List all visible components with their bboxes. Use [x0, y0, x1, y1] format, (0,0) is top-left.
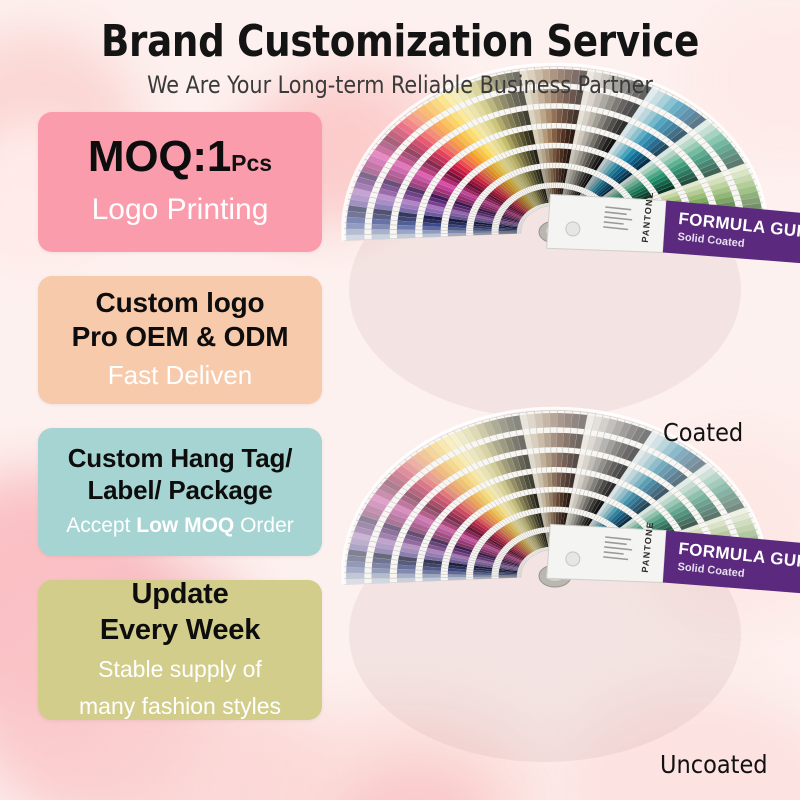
feature-card-hangtag[interactable]: Custom Hang Tag/ Label/ Package Accept L… — [38, 428, 322, 556]
banner-header: Brand Customization Service We Are Your … — [0, 0, 800, 100]
deck-label-coated: Coated — [663, 419, 743, 447]
moq-subline: Logo Printing — [48, 190, 312, 230]
pantone-fan-deck-coated — [330, 104, 800, 444]
pantone-cover-card-coated: PANTONE FORMULA GUIDE Solid Coated — [545, 186, 800, 266]
update-subline-line1: Stable supply of — [48, 654, 312, 685]
moq-headline: MOQ:1Pcs — [48, 132, 312, 188]
fan-deck-uncoated-graphic — [330, 438, 800, 788]
hangtag-headline-line1: Custom Hang Tag/ — [48, 442, 312, 474]
oem-headline-line1: Custom logo — [48, 286, 312, 320]
promo-banner: Brand Customization Service We Are Your … — [0, 0, 800, 800]
deck-label-uncoated: Uncoated — [660, 751, 768, 779]
pantone-fan-deck-uncoated — [330, 438, 800, 788]
hangtag-subline: Accept Low MOQ Order — [48, 511, 312, 541]
oem-subline: Fast Deliven — [48, 358, 312, 392]
hangtag-subline-strong: Low MOQ — [136, 514, 234, 537]
fan-deck-coated-graphic — [330, 104, 800, 444]
update-subline-line2: many fashion styles — [48, 691, 312, 722]
page-subtitle: We Are Your Long-term Reliable Business … — [16, 70, 784, 100]
page-title: Brand Customization Service — [24, 16, 776, 68]
hangtag-headline-line2: Label/ Package — [48, 474, 312, 506]
hangtag-subline-pre: Accept — [66, 514, 136, 537]
feature-card-moq[interactable]: MOQ:1Pcs Logo Printing — [38, 112, 322, 252]
oem-headline-line2: Pro OEM & ODM — [48, 320, 312, 354]
update-headline-line2: Every Week — [48, 612, 312, 648]
feature-card-update[interactable]: Update Every Week Stable supply of many … — [38, 580, 322, 720]
pantone-cover-card-uncoated: PANTONE FORMULA GUIDE Solid Coated — [545, 516, 800, 596]
feature-card-oem[interactable]: Custom logo Pro OEM & ODM Fast Deliven — [38, 276, 322, 404]
moq-unit: Pcs — [231, 150, 272, 176]
update-headline-line1: Update — [48, 576, 312, 612]
feature-card-list: MOQ:1Pcs Logo Printing Custom logo Pro O… — [38, 112, 322, 720]
hangtag-subline-post: Order — [234, 514, 294, 537]
